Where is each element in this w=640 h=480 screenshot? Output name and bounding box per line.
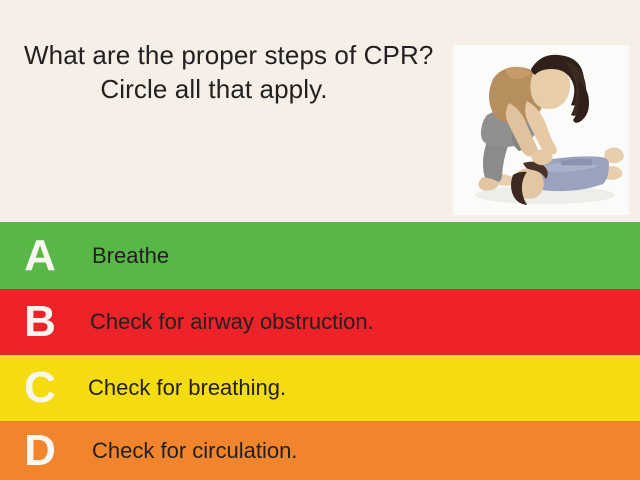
question-prompt: What are the proper steps of CPR? Circle… — [14, 38, 454, 106]
question-line-1: What are the proper steps of CPR? — [14, 38, 454, 72]
answer-text-d: Check for circulation. — [74, 437, 640, 465]
answer-letter-b: B — [0, 300, 74, 344]
answer-option-d[interactable]: D Check for circulation. — [0, 421, 640, 480]
answer-letter-c: C — [0, 366, 74, 410]
answer-text-b: Check for airway obstruction. — [74, 308, 640, 336]
answer-letter-d: D — [0, 429, 74, 473]
answer-text-c: Check for breathing. — [74, 374, 640, 402]
cpr-demonstration-photo — [453, 45, 629, 215]
question-area: What are the proper steps of CPR? Circle… — [0, 0, 640, 222]
answer-option-c[interactable]: C Check for breathing. — [0, 355, 640, 421]
answer-text-a: Breathe — [74, 242, 640, 270]
answer-option-b[interactable]: B Check for airway obstruction. — [0, 289, 640, 355]
answer-option-a[interactable]: A Breathe — [0, 222, 640, 289]
question-line-2: Circle all that apply. — [14, 72, 454, 106]
quiz-card: What are the proper steps of CPR? Circle… — [0, 0, 640, 480]
answer-letter-a: A — [0, 234, 74, 278]
